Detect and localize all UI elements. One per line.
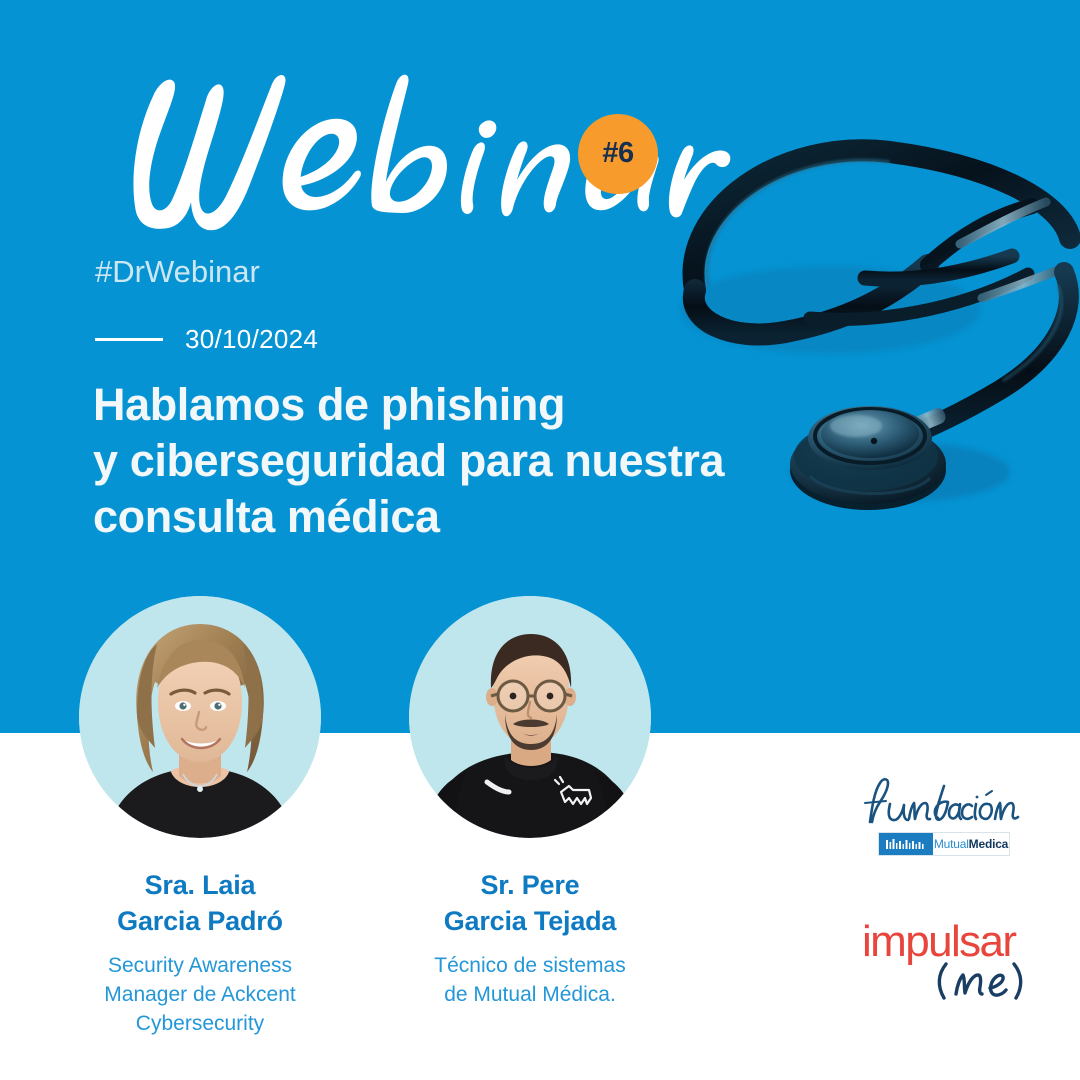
title-line-2: y ciberseguridad para nuestra (93, 433, 793, 489)
speaker-card-1: Sra. Laia Garcia Padró Security Awarenes… (60, 596, 340, 1038)
speaker-name-line: Garcia Padró (117, 903, 283, 939)
speaker-role-line: Técnico de sistemas (434, 951, 625, 980)
speaker-name-line: Sr. Pere (444, 867, 617, 903)
avatar (79, 596, 321, 838)
webinar-poster: #6 #DrWebinar 30/10/2024 Hablamos de phi… (0, 0, 1080, 1080)
avatar (409, 596, 651, 838)
mutual-word: Mutual (934, 837, 969, 851)
speaker-role-line: de Mutual Médica. (434, 980, 625, 1009)
speaker-role-1: Security Awareness Manager de Ackcent Cy… (104, 951, 295, 1038)
title-line-1: Hablamos de phishing (93, 377, 793, 433)
episode-number-badge: #6 (578, 114, 658, 194)
speaker-name-2: Sr. Pere Garcia Tejada (444, 867, 617, 939)
date-rule-line (95, 338, 163, 341)
speaker-role-line: Cybersecurity (104, 1009, 295, 1038)
hashtag-label: #DrWebinar (95, 255, 260, 289)
speaker-name-1: Sra. Laia Garcia Padró (117, 867, 283, 939)
date-text: 30/10/2024 (185, 324, 318, 355)
impulsar-wordmark: impulsar (862, 920, 1032, 964)
mutual-medica-badge: MutualMedica (878, 832, 1010, 856)
speaker-card-2: Sr. Pere Garcia Tejada Técnico de sistem… (390, 596, 670, 1038)
speaker-name-line: Garcia Tejada (444, 903, 617, 939)
impulsarme-logo: impulsar (862, 920, 1032, 1010)
mutual-medica-wordmark: MutualMedica (933, 833, 1009, 855)
speaker-role-line: Security Awareness (104, 951, 295, 980)
title-line-3: consulta médica (93, 489, 793, 545)
speaker-name-line: Sra. Laia (117, 867, 283, 903)
speaker-role-2: Técnico de sistemas de Mutual Médica. (434, 951, 625, 1009)
date-row: 30/10/2024 (95, 324, 318, 355)
medica-word: Medica (969, 837, 1008, 851)
mutual-medica-mark-icon (879, 833, 933, 855)
speaker-role-line: Manager de Ackcent (104, 980, 295, 1009)
page-title: Hablamos de phishing y ciberseguridad pa… (93, 377, 793, 545)
episode-number-text: #6 (602, 139, 633, 168)
fundacion-mutual-medica-logo: MutualMedica (860, 772, 1025, 856)
speakers-row: Sra. Laia Garcia Padró Security Awarenes… (60, 596, 720, 1038)
